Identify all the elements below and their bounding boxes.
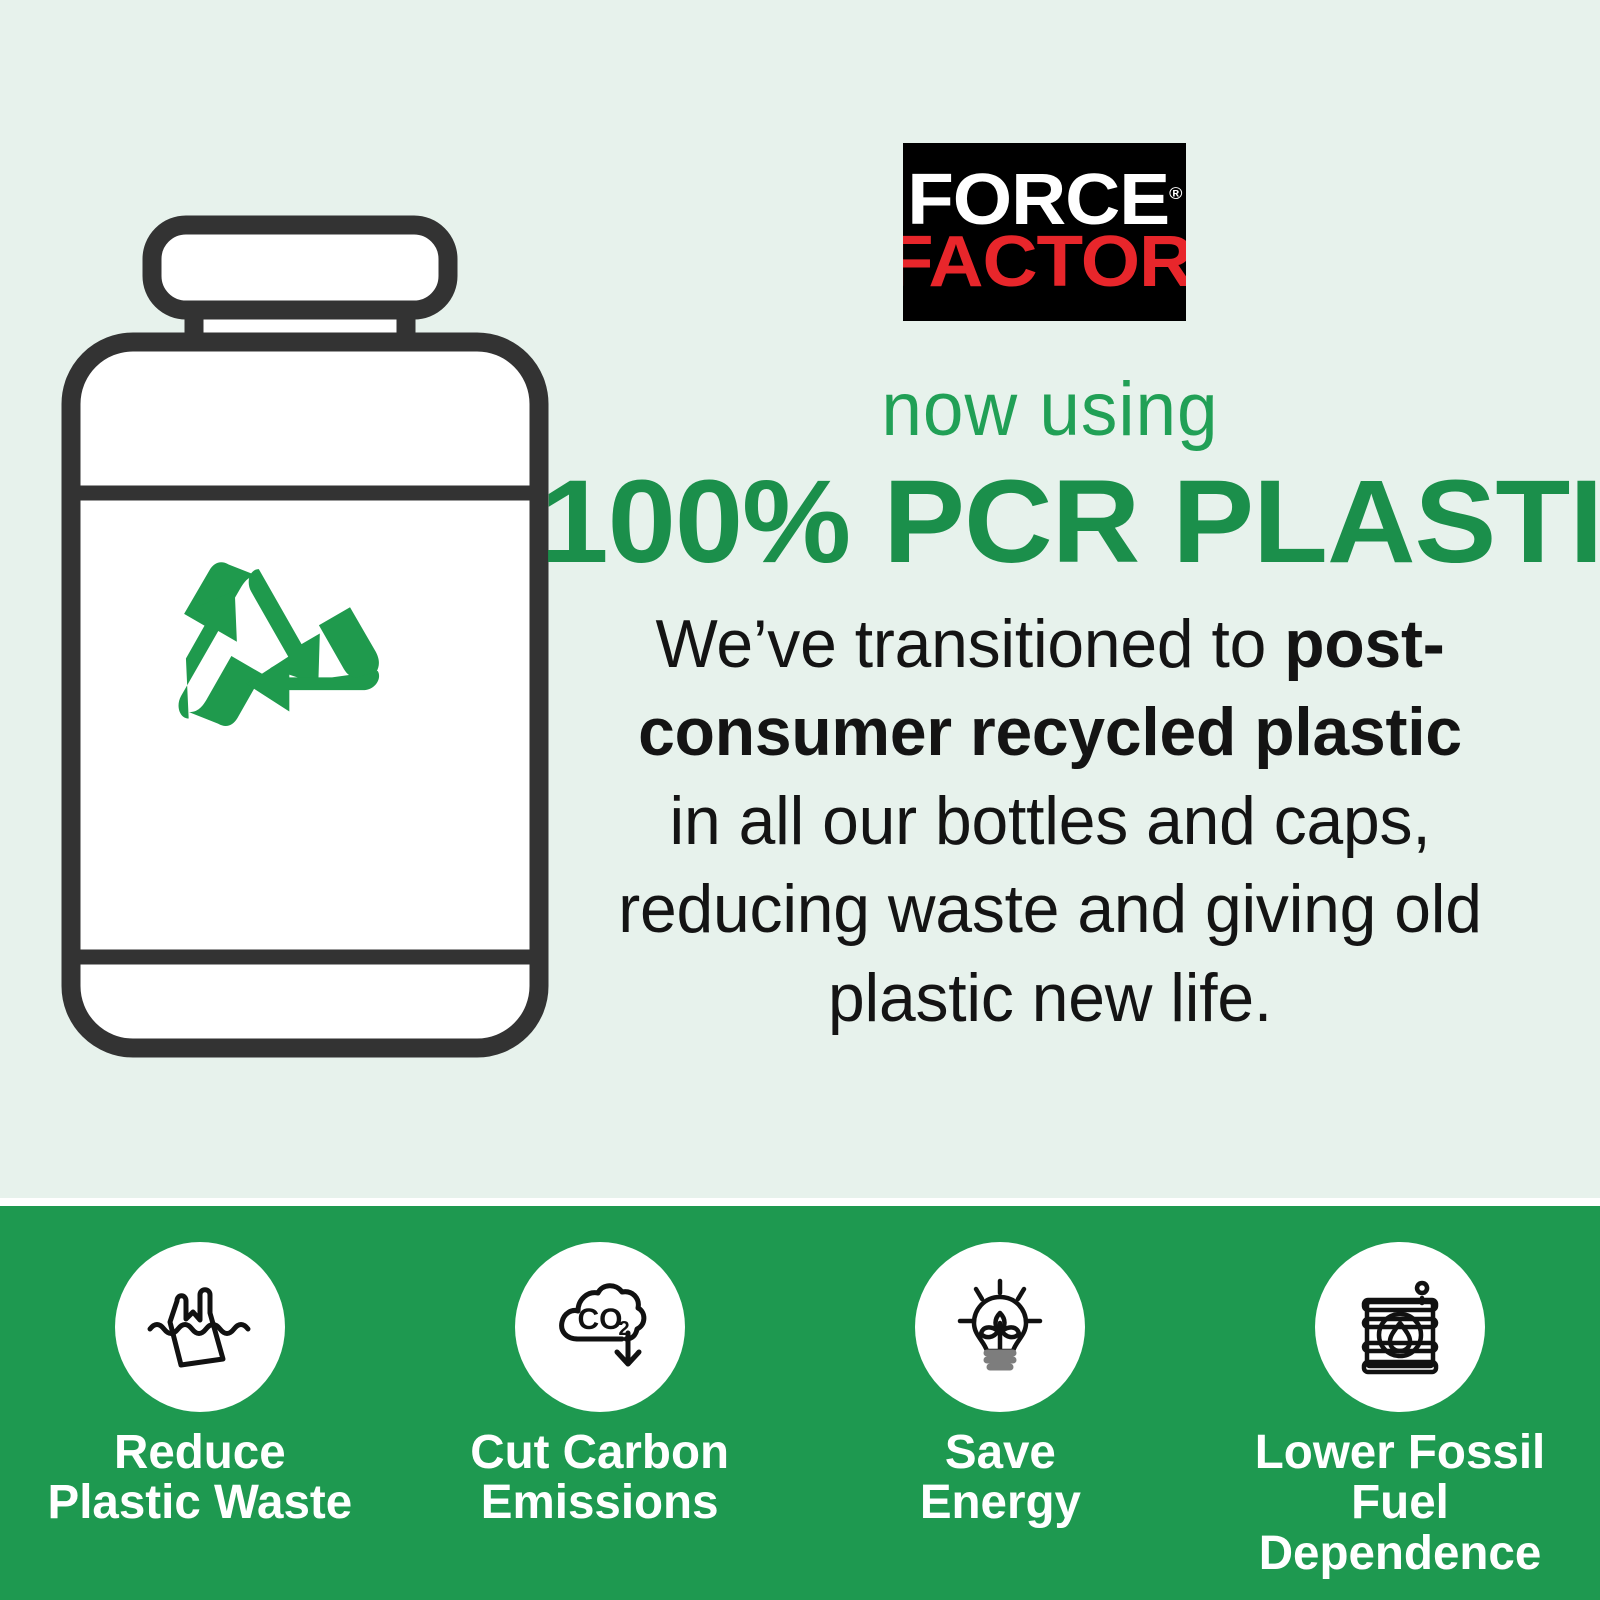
- plastic-bag-in-water-icon: [115, 1242, 285, 1412]
- pcr-plastic-infographic: FORCE® FACTOR® now using 100% PCR PLASTI…: [0, 0, 1600, 1600]
- supplement-bottle-illustration: [60, 215, 550, 1060]
- logo-wordmark-factor: FACTOR®: [903, 231, 1186, 294]
- benefit-label: Lower Fossil Fuel Dependence: [1202, 1428, 1598, 1579]
- page-title: 100% PCR PLASTIC: [540, 463, 1559, 581]
- benefits-banner: Reduce Plastic Waste CO 2: [0, 1206, 1600, 1600]
- lightbulb-plant-icon: [915, 1242, 1085, 1412]
- benefit-item-cut-carbon-emissions: CO 2 Cut Carbon Emissions: [400, 1206, 800, 1529]
- body-text-lead: We’ve transitioned to: [655, 606, 1284, 682]
- benefit-label: Save Energy: [919, 1428, 1080, 1529]
- co2-cloud-down-arrow-icon: CO 2: [515, 1242, 685, 1412]
- eyebrow-text: now using: [618, 372, 1482, 448]
- benefit-item-reduce-plastic-waste: Reduce Plastic Waste: [0, 1206, 400, 1529]
- co2-subscript: 2: [618, 1318, 629, 1340]
- body-text-tail: in all our bottles and caps, reducing wa…: [618, 783, 1481, 1036]
- oil-barrel-drop-icon: [1315, 1242, 1485, 1412]
- benefit-label: Reduce Plastic Waste: [48, 1428, 353, 1529]
- body-paragraph: We’ve transitioned to post-consumer recy…: [614, 600, 1487, 1042]
- force-factor-logo: FORCE® FACTOR®: [903, 143, 1186, 321]
- benefits-list: Reduce Plastic Waste CO 2: [0, 1206, 1600, 1600]
- benefit-item-lower-fossil-fuel-dependence: Lower Fossil Fuel Dependence: [1200, 1206, 1600, 1579]
- registered-mark-icon: ®: [1169, 184, 1181, 203]
- section-divider: [0, 1198, 1600, 1206]
- hero-section: FORCE® FACTOR® now using 100% PCR PLASTI…: [0, 0, 1600, 1203]
- co2-label: CO: [578, 1303, 623, 1336]
- benefit-item-save-energy: Save Energy: [800, 1206, 1200, 1529]
- benefit-label: Cut Carbon Emissions: [471, 1428, 730, 1529]
